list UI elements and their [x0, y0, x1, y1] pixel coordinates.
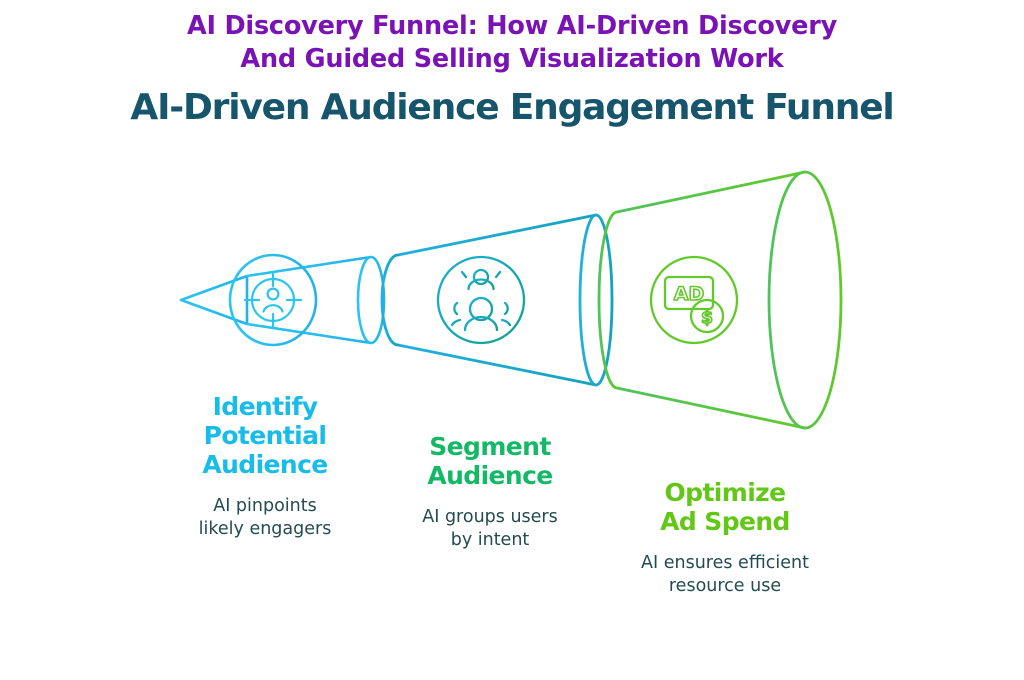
funnel-stage-2-caption: Segment Audience AI groups users by inte… [390, 432, 590, 552]
stage-3-title: Optimize Ad Spend [615, 478, 835, 536]
ad-box-label: AD [674, 283, 704, 305]
stage-1-title: Identify Potential Audience [160, 392, 370, 479]
title-block: AI Discovery Funnel: How AI-Driven Disco… [0, 10, 1024, 76]
infographic-canvas: AI Discovery Funnel: How AI-Driven Disco… [0, 0, 1024, 680]
ad-dollar-icon-text: AD $ [674, 283, 713, 328]
funnel-cone-stage-1 [181, 255, 384, 345]
ad-dollar-icon [651, 257, 737, 343]
stage-2-description: AI groups users by intent [390, 506, 590, 552]
main-title-line-1: AI Discovery Funnel: How AI-Driven Disco… [0, 10, 1024, 43]
funnel-stage-1-caption: Identify Potential Audience AI pinpoints… [160, 392, 370, 541]
funnel-stage-3-caption: Optimize Ad Spend AI ensures efficient r… [615, 478, 835, 598]
coin-dollar-label: $ [701, 308, 713, 328]
audience-group-icon [438, 257, 524, 343]
funnel-cone-stage-3 [599, 172, 841, 428]
stage-2-title: Segment Audience [390, 432, 590, 490]
target-person-icon [245, 272, 301, 328]
funnel-cone-stage-2 [382, 215, 612, 385]
stage-3-description: AI ensures efficient resource use [615, 552, 835, 598]
main-title-line-2: And Guided Selling Visualization Work [0, 43, 1024, 76]
stage-1-description: AI pinpoints likely engagers [160, 495, 370, 541]
page-title: AI-Driven Audience Engagement Funnel [0, 86, 1024, 130]
